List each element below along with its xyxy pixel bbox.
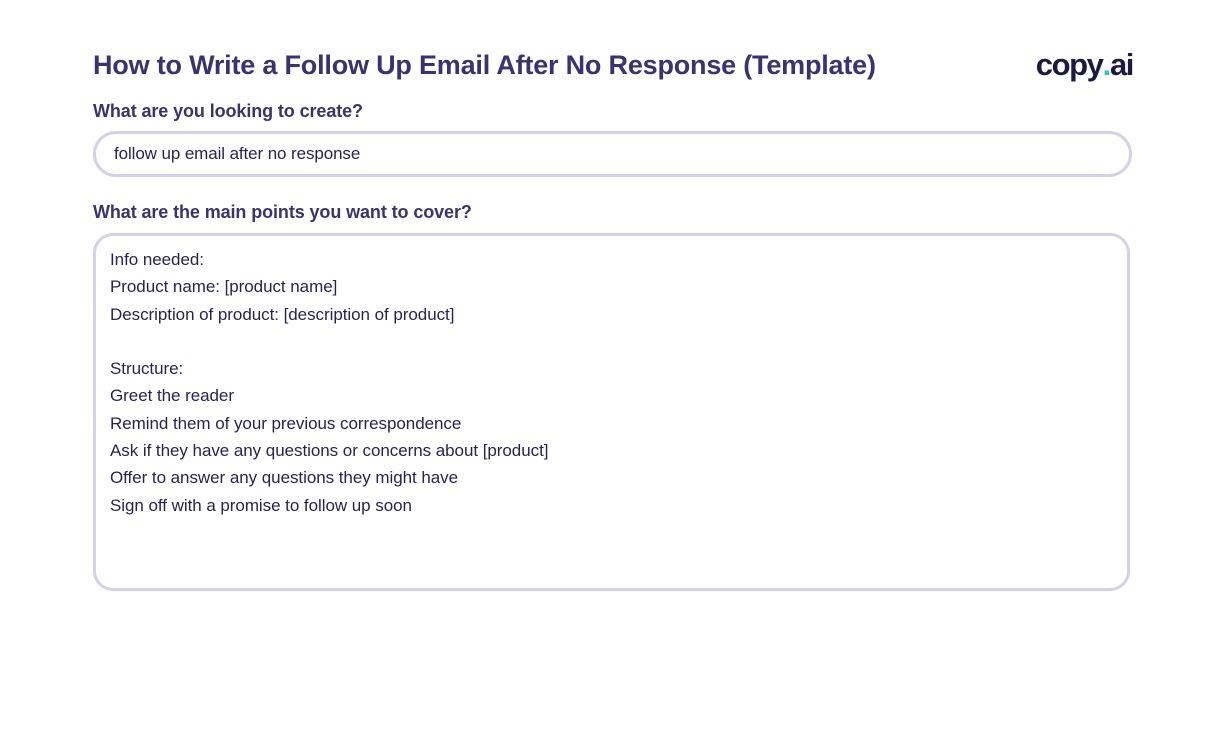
page-root: How to Write a Follow Up Email After No … — [0, 0, 1220, 740]
page-title: How to Write a Follow Up Email After No … — [93, 47, 876, 83]
logo-dot-icon: . — [1103, 47, 1110, 83]
main-points-textarea[interactable] — [93, 233, 1130, 591]
points-field-label: What are the main points you want to cov… — [93, 202, 472, 223]
page-header: How to Write a Follow Up Email After No … — [93, 44, 1133, 86]
prompt-field-label: What are you looking to create? — [93, 101, 363, 122]
logo-text-ai: ai — [1110, 47, 1133, 83]
copyai-logo[interactable]: copy.ai — [1036, 47, 1133, 83]
logo-text-copy: copy — [1036, 47, 1103, 83]
prompt-input[interactable] — [93, 131, 1132, 177]
